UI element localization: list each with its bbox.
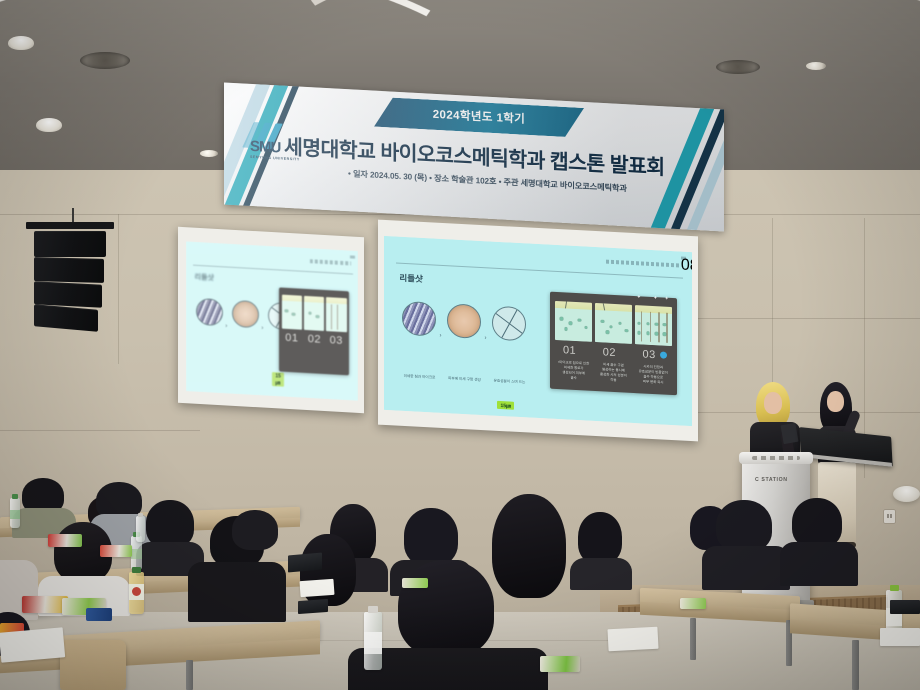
ceiling-spot-3 — [806, 62, 826, 70]
right-slide-circle-3 — [492, 306, 526, 342]
right-slide-step-caption-1: •마이크로 침으로 인한 미세한 통로가 생성되어 피부에 흡수 — [555, 360, 592, 382]
right-slide-step-cell-2 — [595, 303, 632, 344]
paper-handout-4 — [880, 628, 920, 646]
desk-leg-r3 — [852, 640, 859, 690]
left-slide-step-number-3: 03 — [330, 334, 343, 347]
right-slide-circle-caption-1: 미세한 침과 마이크로 — [396, 373, 442, 380]
water-bottle-4 — [136, 516, 145, 542]
left-slide-header-note — [310, 259, 351, 265]
right-slide-plus-2: + — [654, 295, 657, 301]
right-slide-header-note — [606, 260, 680, 268]
right-slide-circle-caption-3: 유효성분이 스며 드는 — [486, 378, 532, 385]
left-slide-step-cell-1 — [282, 295, 302, 330]
left-slide-circle-1 — [196, 297, 223, 326]
audience-hair — [404, 508, 458, 566]
presenter-blonde-script — [780, 423, 798, 444]
audience-hair — [578, 512, 622, 564]
left-slide-panel: 01 02 03 — [279, 287, 350, 375]
audience-hair — [232, 510, 278, 550]
podium-vent-slots — [752, 456, 800, 460]
left-slide-step-number-1: 01 — [285, 332, 298, 345]
audience-hair — [716, 500, 772, 552]
right-slide-step-caption-3: 시카의 진정과 유효성분이 빈틈없이 흡수 작용으로 피부 변화 즉시 — [635, 364, 672, 386]
bottle-label — [10, 510, 20, 519]
presenter-blonde-head — [764, 392, 782, 414]
left-slide-arrow-1: › — [225, 323, 227, 329]
paper-handout-1 — [0, 627, 65, 662]
right-slide-step-number-1: 01 — [563, 344, 576, 357]
right-slide-panel: + + + — [550, 292, 676, 396]
audience-hair — [792, 498, 842, 548]
audience-shoulders — [780, 542, 858, 586]
snack-bag-6 — [540, 656, 580, 672]
snack-bag-2 — [100, 545, 132, 557]
bottle-cap — [368, 606, 378, 613]
right-screen-surface: 08 리들샷 › › 미세한 침과 마이크로 피부에 미세 구멍 생성 유효성분… — [384, 236, 692, 426]
bottle-cap — [132, 567, 141, 573]
bottle-cap — [12, 494, 18, 499]
podium-brand-label: C STATION — [755, 477, 788, 483]
ceiling-vent-2 — [716, 60, 760, 74]
speaker-mount-bar — [26, 222, 114, 229]
left-slide: 리들샷 › › 15㎛ — [186, 241, 358, 401]
left-slide-micron-badge: 15㎛ — [272, 372, 284, 387]
water-bottle-3 — [364, 612, 382, 670]
right-slide-plus-3: + — [665, 296, 668, 302]
lecture-hall-scene: 2024학년도 1학기 SMU SEMYUNG UNIVERSITY 세명대학교… — [0, 0, 920, 690]
right-slide-arrow-1: › — [439, 332, 441, 338]
audience-hair — [146, 500, 194, 548]
right-projection-screen: 08 리들샷 › › 미세한 침과 마이크로 피부에 미세 구멍 생성 유효성분… — [378, 220, 698, 442]
right-slide-page-number: 08 — [681, 257, 686, 260]
left-slide-title: 리들샷 — [195, 272, 214, 283]
audience-hair — [398, 560, 494, 656]
desk-leg-r1 — [690, 618, 696, 660]
ceiling-downlight-2 — [36, 118, 62, 132]
ceiling-downlight-1 — [8, 36, 34, 50]
presenter-dark-head — [827, 391, 844, 412]
right-slide-circle-caption-2: 피부에 미세 구멍 생성 — [441, 376, 487, 383]
right-slide-circle-2 — [447, 304, 481, 340]
audience-shoulders — [188, 562, 286, 622]
ceiling-vent-1 — [80, 52, 130, 69]
wall-seam-4 — [0, 430, 200, 431]
right-slide-title: 리들샷 — [399, 272, 422, 285]
bottle-label — [131, 549, 142, 559]
laptop-screen-2 — [298, 599, 328, 614]
laptop-screen-3 — [890, 600, 920, 614]
bottle-label-art — [132, 587, 141, 596]
audience-shoulders — [702, 546, 790, 590]
speaker-module-3 — [34, 281, 102, 308]
paper-handout-3 — [299, 579, 334, 597]
left-slide-circle-row: › › 15㎛ — [196, 297, 272, 361]
right-slide-plus-1: + — [637, 294, 640, 300]
snack-bag-1 — [48, 534, 82, 547]
left-slide-step-cell-3 — [326, 297, 346, 332]
speaker-module-2 — [34, 257, 104, 283]
right-slide-step-number-3: 03 — [642, 348, 655, 361]
right-slide-step3-marker-dot — [660, 351, 667, 358]
phone-device — [86, 608, 112, 621]
wall-vseam-3 — [118, 214, 119, 364]
power-outlet — [884, 510, 895, 523]
wall-seam-3 — [690, 412, 920, 413]
audience-shoulders — [570, 558, 632, 590]
left-slide-step-number-2: 02 — [308, 333, 321, 346]
left-slide-header-rule — [193, 264, 353, 274]
desk-leg-l1 — [186, 660, 193, 690]
right-slide-circle-row: › › 미세한 침과 마이크로 피부에 미세 구멍 생성 유효성분이 스며 드는… — [402, 301, 538, 378]
bottle-label — [364, 632, 382, 654]
right-slide-arrow-2: › — [484, 335, 486, 341]
bottle-cap — [890, 585, 899, 591]
left-slide-circle-2 — [232, 299, 259, 328]
laptop-screen-1 — [288, 553, 322, 573]
speaker-module-1 — [34, 231, 106, 257]
right-slide: 08 리들샷 › › 미세한 침과 마이크로 피부에 미세 구멍 생성 유효성분… — [384, 236, 692, 426]
right-slide-step-cell-3 — [635, 305, 672, 346]
left-projection-screen: 리들샷 › › 15㎛ — [178, 227, 364, 413]
right-slide-step-caption-2: 미세 흡수 구멍 형성하는 동시에 활성화 시켜 성분이 작용 — [595, 362, 632, 384]
line-array-speaker — [30, 222, 110, 332]
water-bottle-1 — [10, 498, 20, 528]
bottle-cap — [138, 513, 143, 517]
wall-seam-2 — [690, 318, 920, 319]
left-screen-surface: 리들샷 › › 15㎛ — [186, 241, 358, 401]
ceiling-spot-1 — [200, 150, 218, 157]
snack-bag-7 — [680, 598, 706, 609]
speaker-module-4 — [34, 304, 98, 332]
chair-front-left — [60, 640, 126, 690]
left-slide-step-cell-2 — [304, 296, 324, 331]
left-slide-page-number — [350, 255, 355, 258]
right-slide-step-cell-1 — [555, 301, 592, 342]
juice-bottle — [129, 572, 144, 614]
paper-handout-2 — [607, 627, 658, 652]
left-slide-arrow-2: › — [261, 325, 263, 331]
right-slide-circle-1 — [402, 301, 436, 337]
snack-bag-5 — [402, 578, 428, 588]
right-slide-micron-badge: 15㎛ — [497, 401, 514, 410]
right-slide-step-number-2: 02 — [603, 346, 616, 359]
audience-hair — [492, 494, 566, 598]
wall-dish-light — [893, 486, 920, 502]
